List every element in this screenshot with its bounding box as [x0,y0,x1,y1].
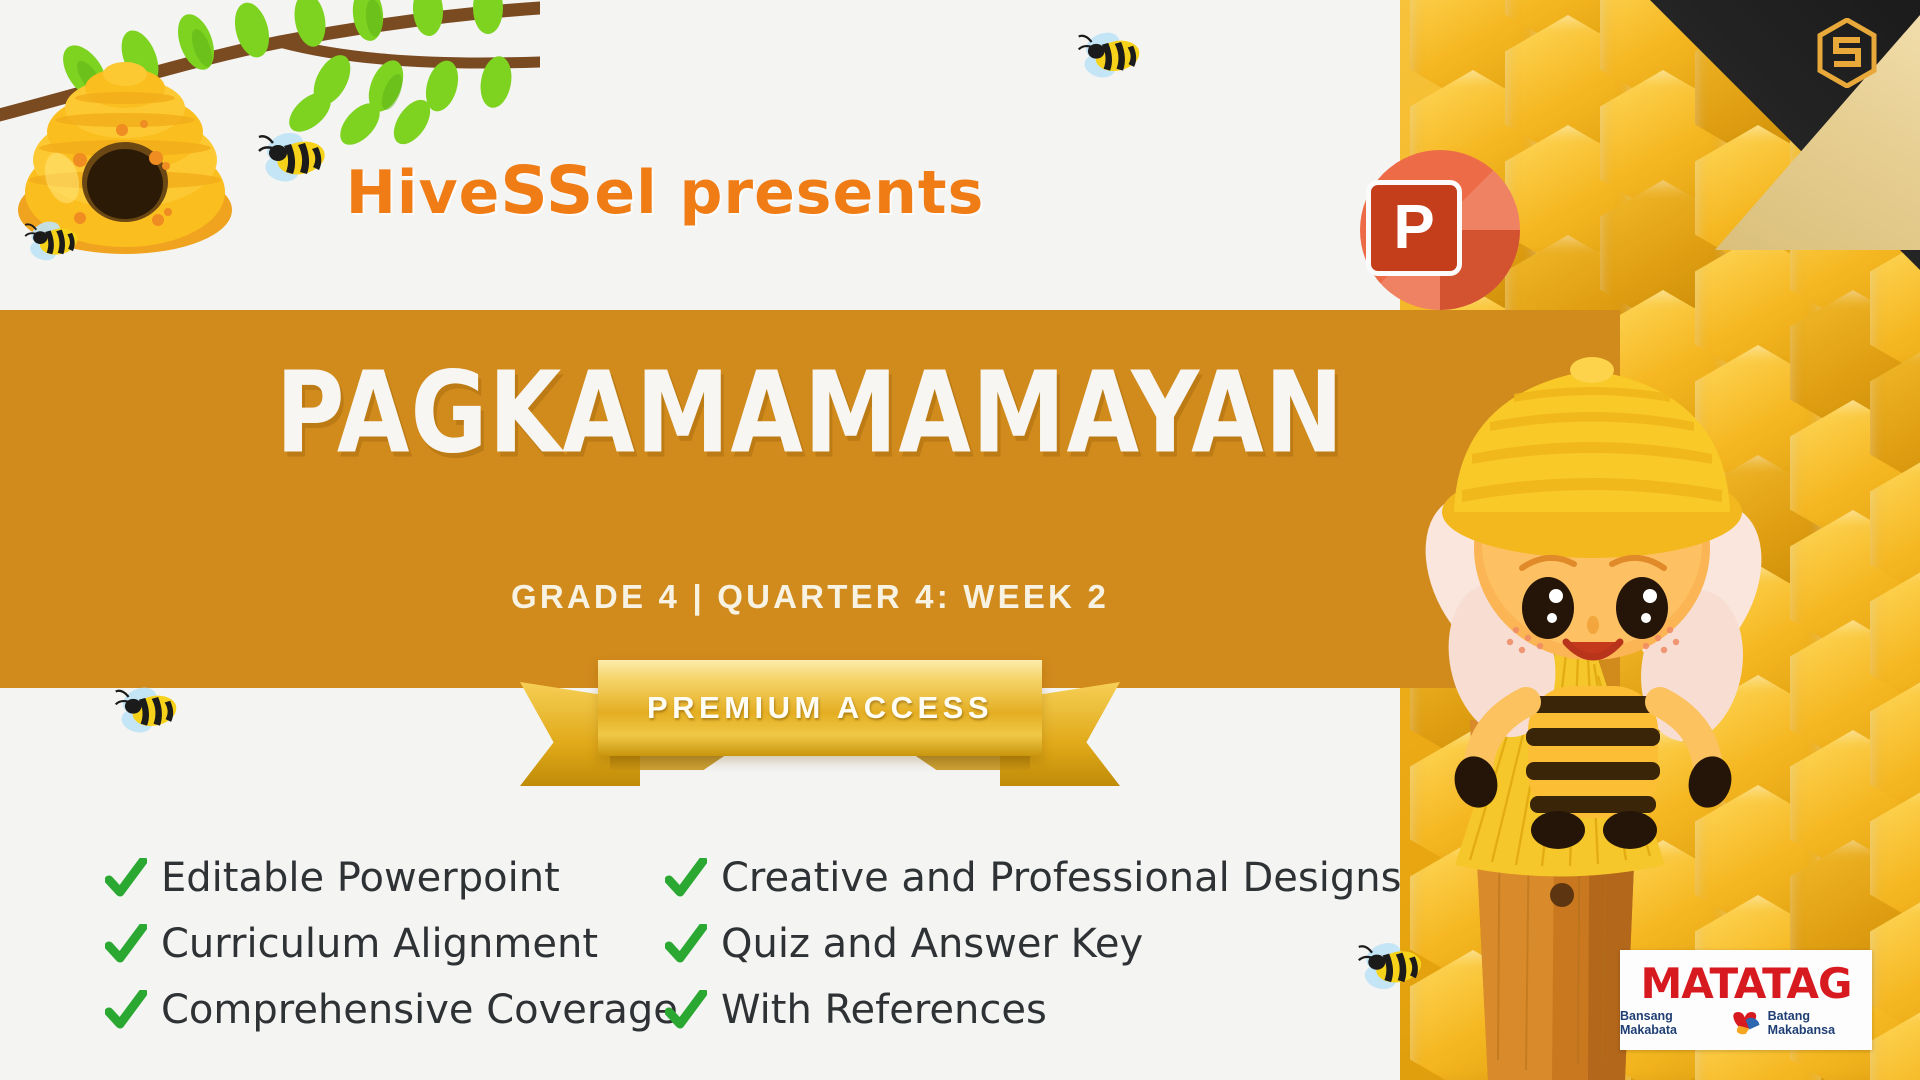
feature-column-right: Creative and Professional Designs Quiz a… [665,855,1401,1033]
premium-ribbon: PREMIUM ACCESS [520,660,1120,780]
list-item: Quiz and Answer Key [665,921,1401,967]
feature-list: Editable Powerpoint Curriculum Alignment… [105,855,1285,1033]
ribbon-label: PREMIUM ACCESS [647,690,993,726]
feature-column-left: Editable Powerpoint Curriculum Alignment… [105,855,605,1033]
bee-mascot-icon [1380,330,1800,850]
matatag-tagline-right: Batang Makabansa [1768,1009,1872,1037]
brand-suffix: el presents [594,158,984,228]
bee-icon [112,680,184,738]
feature-label: With References [721,987,1047,1033]
check-icon [105,858,147,898]
matatag-tagline-left: Bansang Makabata [1620,1009,1724,1037]
heart-hands-icon [1730,1010,1761,1036]
ribbon-body: PREMIUM ACCESS [598,660,1042,756]
brand-presents-text: HiveSSel presents [0,152,1330,229]
bee-icon [22,215,84,265]
title-band: PAGKAMAMAMAYAN GRADE 4 | QUARTER 4: WEEK… [0,310,1620,688]
check-icon [105,990,147,1030]
feature-label: Editable Powerpoint [161,855,560,901]
check-icon [665,990,707,1030]
list-item: With References [665,987,1401,1033]
check-icon [665,858,707,898]
bee-icon [1075,25,1147,83]
brand-prefix: Hive [346,158,501,228]
page-subtitle: GRADE 4 | QUARTER 4: WEEK 2 [0,578,1620,616]
poster-canvas: HiveSSel presents P PAGKAMAMAMAYAN GRADE… [0,0,1920,1080]
list-item: Editable Powerpoint [105,855,605,901]
list-item: Creative and Professional Designs [665,855,1401,901]
list-item: Curriculum Alignment [105,921,605,967]
check-icon [105,924,147,964]
powerpoint-letter: P [1366,180,1462,276]
feature-label: Quiz and Answer Key [721,921,1143,967]
powerpoint-badge: P [1360,150,1520,310]
list-item: Comprehensive Coverage [105,987,605,1033]
bee-icon [1355,935,1429,995]
hexagon-s-logo [1816,18,1878,88]
check-icon [665,924,707,964]
matatag-tagline-row: Bansang Makabata Batang Makabansa [1620,1009,1872,1037]
matatag-logo: MATATAG Bansang Makabata Batang Makabans… [1620,950,1872,1050]
feature-label: Curriculum Alignment [161,921,598,967]
feature-label: Creative and Professional Designs [721,855,1401,901]
feature-label: Comprehensive Coverage [161,987,678,1033]
matatag-wordmark: MATATAG [1640,963,1851,1005]
brand-mid: SS [500,152,594,229]
bee-icon [255,125,333,187]
